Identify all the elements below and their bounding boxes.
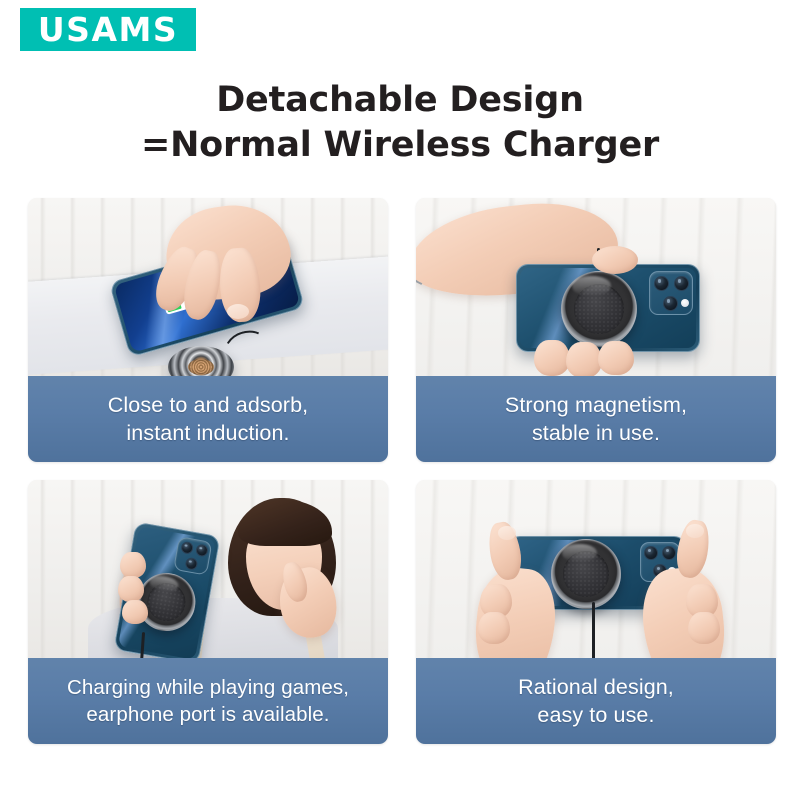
camera-lens [180,541,194,555]
photo-rational-design [416,480,776,658]
finger-right [688,612,720,644]
camera-lens [654,276,669,291]
feature-card-strong-magnetism: Strong magnetism, stable in use. [416,198,776,462]
finger [566,342,602,376]
headline-line-1: Detachable Design [0,78,800,123]
camera-module [173,536,212,575]
feature-card-charging-while-gaming: Charging while playing games, earphone p… [28,480,388,744]
photo-close-adsorb [28,198,388,376]
puck-highlight [562,544,597,562]
magnetic-charger-puck [561,271,637,347]
product-feature-page: USAMS Detachable Design =Normal Wireless… [0,0,800,800]
feature-card-close-adsorb: Close to and adsorb, instant induction. [28,198,388,462]
usams-logo: USAMS [20,8,196,51]
camera-lens [195,543,209,557]
finger [118,576,144,602]
camera-module [649,271,693,315]
caption-bar-charging-while-gaming: Charging while playing games, earphone p… [28,658,388,744]
fingernail [686,524,704,538]
camera-lens [644,546,658,560]
finger-thumb [592,246,638,274]
camera-flash [681,299,689,307]
camera-lens [663,296,678,311]
smartphone [516,264,700,352]
caption-text: Rational design, easy to use. [518,673,674,730]
photo-charging-while-gaming [28,480,388,658]
camera-lens [674,276,689,291]
page-headline: Detachable Design =Normal Wireless Charg… [0,78,800,168]
finger [598,341,634,375]
caption-text: Strong magnetism, stable in use. [505,391,687,448]
fingernail [227,304,249,319]
photo-strong-magnetism [416,198,776,376]
caption-text: Charging while playing games, earphone p… [67,674,349,728]
finger [120,552,146,578]
logo-text: USAMS [38,13,178,46]
headline-line-2: =Normal Wireless Charger [0,123,800,168]
caption-text: Close to and adsorb, instant induction. [108,391,308,448]
camera-lens [184,557,198,571]
magnetic-charger-puck [551,539,621,609]
feature-card-grid: Close to and adsorb, instant induction. [28,198,776,744]
finger [534,340,570,376]
charging-coil [188,359,214,376]
feature-card-rational-design: Rational design, easy to use. [416,480,776,744]
charger-cable [592,602,595,658]
fingernail [498,526,516,540]
finger-left [478,612,510,644]
caption-bar-close-adsorb: Close to and adsorb, instant induction. [28,376,388,462]
caption-bar-strong-magnetism: Strong magnetism, stable in use. [416,376,776,462]
caption-bar-rational-design: Rational design, easy to use. [416,658,776,744]
camera-lens [662,546,676,560]
puck-highlight [572,276,610,295]
finger [122,600,148,624]
